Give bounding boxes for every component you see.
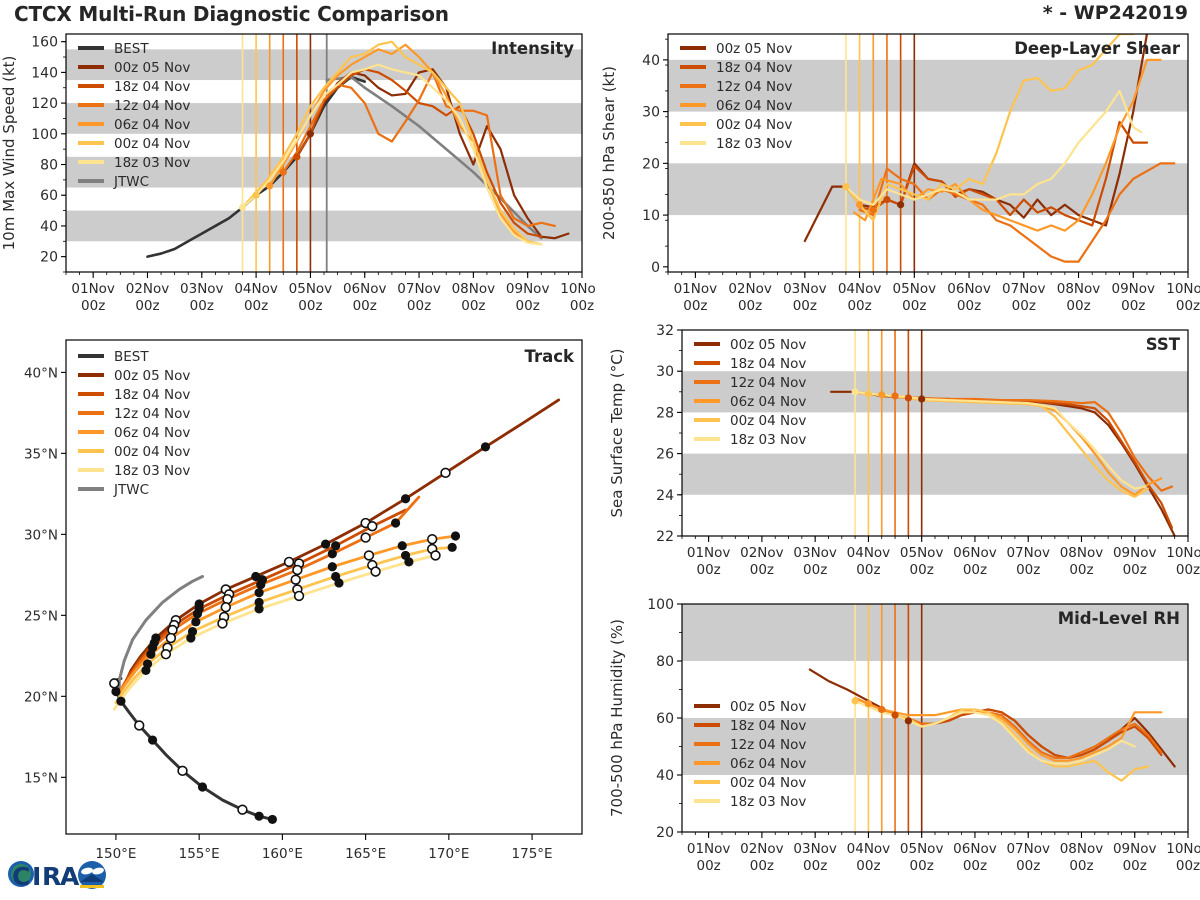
init-marker [865,700,872,707]
legend-label: 18z 04 Nov [716,60,792,76]
track-marker-open [285,557,294,566]
track-marker-open [361,533,370,542]
y-tick-label: 80 [656,654,674,670]
x-tick-label: 02Nov [126,281,170,297]
x-tick-label: 08Nov [452,281,496,297]
y-tick-label: 100 [647,597,674,613]
x-tick-sublabel: 00z [1066,298,1090,314]
x-tick-label: 07Nov [397,281,441,297]
intensity-panel: 2040608010012014016001Nov00z02Nov00z03No… [0,26,596,330]
y-tick-label: 120 [31,96,58,112]
x-tick-label: 06Nov [953,545,997,561]
legend-label: 00z 04 Nov [730,413,806,429]
init-marker [266,182,273,189]
x-tick-label: 06Nov [953,841,997,857]
x-tick-sublabel: 00z [1176,298,1200,314]
track-marker-filled [404,557,413,566]
x-tick-sublabel: 00z [750,858,774,874]
y-tick-label: 40 [642,53,660,69]
x-tick-label: 05Nov [893,281,937,297]
x-tick-sublabel: 00z [902,298,926,314]
legend-label: 18z 04 Nov [730,718,806,734]
track-marker-open [168,626,177,635]
x-tick-sublabel: 00z [696,858,720,874]
rh-panel: 2040608010001Nov00z02Nov00z03Nov00z04Nov… [596,596,1200,888]
track-y-tick-label: 35°N [24,446,58,462]
x-tick-sublabel: 00z [353,298,377,314]
track-marker-open [365,551,374,560]
x-tick-label: 06Nov [343,281,387,297]
track-x-tick-label: 170°E [428,846,469,862]
track-marker-filled [191,617,200,626]
legend-label: 18z 03 Nov [114,155,190,171]
x-tick-sublabel: 00z [1016,858,1040,874]
x-tick-label: 01Nov [687,545,731,561]
legend-label: 06z 04 Nov [730,394,806,410]
init-marker [842,183,849,190]
x-tick-sublabel: 00z [1176,562,1200,578]
x-tick-label: 08Nov [1057,281,1101,297]
x-tick-label: 06Nov [947,281,991,297]
x-tick-label: 04Nov [234,281,278,297]
x-tick-label: 09Nov [506,281,550,297]
track-marker-filled [401,494,410,503]
y-tick-label: 100 [31,127,58,143]
legend-label: 18z 04 Nov [114,387,190,403]
track-marker-filled [256,580,265,589]
x-tick-sublabel: 00z [910,858,934,874]
y-tick-label: 24 [656,488,674,504]
x-tick-label: 03Nov [793,545,837,561]
track-marker-filled [398,541,407,550]
track-marker-filled [186,633,195,642]
track-marker-open [428,535,437,544]
x-tick-sublabel: 00z [696,562,720,578]
x-tick-label: 03Nov [793,841,837,857]
legend-label: 06z 04 Nov [114,117,190,133]
x-tick-label: 09Nov [1113,545,1157,561]
track-x-tick-label: 165°E [345,846,386,862]
track-marker-open [368,522,377,531]
legend-label: 00z 05 Nov [730,699,806,715]
init-marker [891,392,898,399]
x-tick-sublabel: 00z [738,298,762,314]
x-tick-label: 10Nov [560,281,596,297]
track-marker-filled [481,442,490,451]
init-marker [878,706,885,713]
x-tick-sublabel: 00z [750,562,774,578]
x-tick-sublabel: 00z [910,562,934,578]
legend-label: 18z 04 Nov [114,79,190,95]
track-marker-filled [141,666,150,675]
legend-label: BEST [114,41,149,57]
y-tick-label: 40 [40,219,58,235]
x-tick-sublabel: 00z [1012,298,1036,314]
track-marker-open [291,575,300,584]
y-tick-label: 140 [31,65,58,81]
track-marker-filled [391,518,400,527]
track-marker-filled [146,650,155,659]
x-tick-sublabel: 00z [793,298,817,314]
y-tick-label: 30 [656,364,674,380]
init-marker [307,130,314,137]
legend-label: 00z 04 Nov [114,444,190,460]
y-axis-label: 200-850 hPa Shear (kt) [600,66,618,240]
svg-text:R: R [42,862,61,891]
x-tick-sublabel: 00z [1176,858,1200,874]
legend-label: 00z 05 Nov [716,41,792,57]
x-tick-sublabel: 00z [516,298,540,314]
track-marker-filled [334,578,343,587]
x-tick-sublabel: 00z [298,298,322,314]
legend-label: 18z 03 Nov [716,136,792,152]
legend-label: 00z 05 Nov [114,60,190,76]
x-tick-sublabel: 00z [1123,858,1147,874]
x-tick-sublabel: 00z [856,858,880,874]
y-tick-label: 20 [40,250,58,266]
init-marker [852,388,859,395]
track-marker-filled [321,539,330,548]
track-marker-open [238,805,247,814]
init-marker [253,192,260,199]
x-tick-sublabel: 00z [803,858,827,874]
legend-label: 18z 04 Nov [730,356,806,372]
legend-label: BEST [114,349,149,365]
track-marker-open [218,619,227,628]
track-y-tick-label: 25°N [24,608,58,624]
legend-label: 18z 03 Nov [114,463,190,479]
x-tick-label: 10Nov [1166,281,1200,297]
x-tick-sublabel: 00z [1123,562,1147,578]
shear-panel: 01020304001Nov00z02Nov00z03Nov00z04Nov00… [596,26,1200,330]
x-tick-sublabel: 00z [81,298,105,314]
init-marker [918,395,925,402]
x-tick-sublabel: 00z [1069,858,1093,874]
track-marker-filled [328,549,337,558]
init-marker [897,201,904,208]
legend-label: 12z 04 Nov [730,375,806,391]
x-tick-sublabel: 00z [244,298,268,314]
init-marker [878,391,885,398]
track-marker-open [295,592,304,601]
track-y-tick-label: 30°N [24,527,58,543]
y-tick-label: 40 [656,768,674,784]
track-marker-open [221,603,230,612]
y-axis-label: 10m Max Wind Speed (kt) [0,56,18,251]
x-tick-sublabel: 00z [957,298,981,314]
track-y-tick-label: 15°N [24,770,58,786]
y-axis-label: Sea Surface Temp (°C) [608,348,626,517]
y-tick-label: 28 [656,405,674,421]
x-tick-label: 09Nov [1111,281,1155,297]
y-axis-label: 700-500 hPa Humidity (%) [608,619,626,817]
y-tick-label: 10 [642,208,660,224]
init-time-lines [855,330,922,536]
shaded-band [682,454,1188,495]
legend-label: 12z 04 Nov [716,79,792,95]
cira-logo: C I R A [4,852,116,896]
x-tick-label: 04Nov [838,281,882,297]
track-marker-filled [268,815,277,824]
y-tick-label: 80 [40,158,58,174]
x-tick-label: 10Nov [1166,545,1200,561]
x-tick-label: 05Nov [289,281,333,297]
page-title: CTCX Multi-Run Diagnostic Comparison [14,2,449,26]
legend-label: 00z 05 Nov [730,337,806,353]
panel-title: Intensity [491,39,574,58]
x-tick-label: 10Nov [1166,841,1200,857]
track-marker-open [371,567,380,576]
track-x-tick-label: 175°E [512,846,553,862]
x-tick-sublabel: 00z [963,858,987,874]
y-tick-label: 60 [40,188,58,204]
x-tick-sublabel: 00z [1016,562,1040,578]
panel-title: Track [525,347,575,366]
legend-label: 00z 04 Nov [716,117,792,133]
track-marker-filled [451,531,460,540]
x-tick-sublabel: 00z [190,298,214,314]
svg-text:C: C [12,862,30,891]
track-marker-filled [254,588,263,597]
sst-panel: 22242628303201Nov00z02Nov00z03Nov00z04No… [596,322,1200,592]
y-tick-label: 20 [656,825,674,841]
legend-label: 18z 03 Nov [730,794,806,810]
x-tick-label: 01Nov [674,281,718,297]
y-tick-label: 20 [642,156,660,172]
x-tick-label: 03Nov [783,281,827,297]
init-marker [852,697,859,704]
track-marker-filled [328,562,337,571]
panel-title: Mid-Level RH [1058,609,1180,628]
x-tick-label: 07Nov [1006,545,1050,561]
legend-label: JTWC [113,174,149,190]
panel-title: Deep-Layer Shear [1014,39,1181,58]
x-tick-label: 08Nov [1060,545,1104,561]
track-marker-filled [448,543,457,552]
track-marker-filled [331,541,340,550]
x-tick-sublabel: 00z [570,298,594,314]
x-tick-sublabel: 00z [847,298,871,314]
track-marker-open [441,468,450,477]
legend-label: JTWC [113,482,149,498]
legend-label: 18z 03 Nov [730,432,806,448]
y-tick-label: 60 [656,711,674,727]
x-tick-sublabel: 00z [856,562,880,578]
track-marker-open [110,679,119,688]
x-tick-label: 04Nov [847,545,891,561]
x-tick-label: 02Nov [740,545,784,561]
track-marker-filled [116,697,125,706]
x-tick-label: 02Nov [740,841,784,857]
init-marker [856,201,863,208]
storm-id-label: * - WP242019 [1043,2,1188,24]
legend-label: 00z 04 Nov [114,136,190,152]
x-tick-label: 09Nov [1113,841,1157,857]
track-marker-filled [198,782,207,791]
track-marker-filled [148,735,157,744]
x-tick-sublabel: 00z [461,298,485,314]
track-marker-open [223,595,232,604]
init-marker [891,712,898,719]
track-marker-open [178,766,187,775]
x-tick-label: 05Nov [900,545,944,561]
track-marker-open [135,721,144,730]
track-marker-filled [193,609,202,618]
init-marker [883,196,890,203]
x-tick-sublabel: 00z [135,298,159,314]
legend-label: 12z 04 Nov [730,737,806,753]
track-x-tick-label: 155°E [179,846,220,862]
x-tick-sublabel: 00z [407,298,431,314]
legend-label: 00z 05 Nov [114,368,190,384]
x-tick-sublabel: 00z [963,562,987,578]
init-marker [865,390,872,397]
track-marker-open [161,650,170,659]
y-tick-label: 160 [31,35,58,51]
track-marker-open [293,566,302,575]
x-tick-label: 05Nov [900,841,944,857]
legend-label: 12z 04 Nov [114,98,190,114]
x-tick-label: 04Nov [847,841,891,857]
init-marker [905,394,912,401]
y-tick-label: 30 [642,105,660,121]
track-marker-filled [254,812,263,821]
panel-title: SST [1146,335,1181,354]
track-x-tick-label: 160°E [262,846,303,862]
init-marker [293,153,300,160]
x-tick-label: 08Nov [1060,841,1104,857]
x-tick-sublabel: 00z [1121,298,1145,314]
legend-label: 06z 04 Nov [114,425,190,441]
track-marker-open [431,551,440,560]
x-tick-sublabel: 00z [1069,562,1093,578]
init-marker [239,204,246,211]
y-tick-label: 32 [656,323,674,339]
track-y-tick-label: 20°N [24,689,58,705]
legend-label: 00z 04 Nov [730,775,806,791]
x-tick-label: 03Nov [180,281,224,297]
x-tick-label: 01Nov [687,841,731,857]
track-marker-open [166,634,175,643]
svg-text:I: I [32,862,41,891]
x-tick-label: 07Nov [1002,281,1046,297]
track-y-tick-label: 40°N [24,365,58,381]
legend-label: 06z 04 Nov [716,98,792,114]
x-tick-label: 01Nov [71,281,115,297]
y-tick-label: 0 [651,260,660,276]
legend-label: 12z 04 Nov [114,406,190,422]
x-tick-label: 07Nov [1006,841,1050,857]
init-marker [280,169,287,176]
y-tick-label: 26 [656,447,674,463]
svg-text:A: A [60,862,80,891]
track-marker-filled [254,604,263,613]
init-marker [870,206,877,213]
x-tick-label: 02Nov [728,281,772,297]
x-tick-sublabel: 00z [683,298,707,314]
track-panel: 15°N20°N25°N30°N35°N40°N150°E155°E160°E1… [0,330,596,878]
x-tick-sublabel: 00z [803,562,827,578]
y-tick-label: 22 [656,529,674,545]
legend-label: 06z 04 Nov [730,756,806,772]
init-marker [905,717,912,724]
